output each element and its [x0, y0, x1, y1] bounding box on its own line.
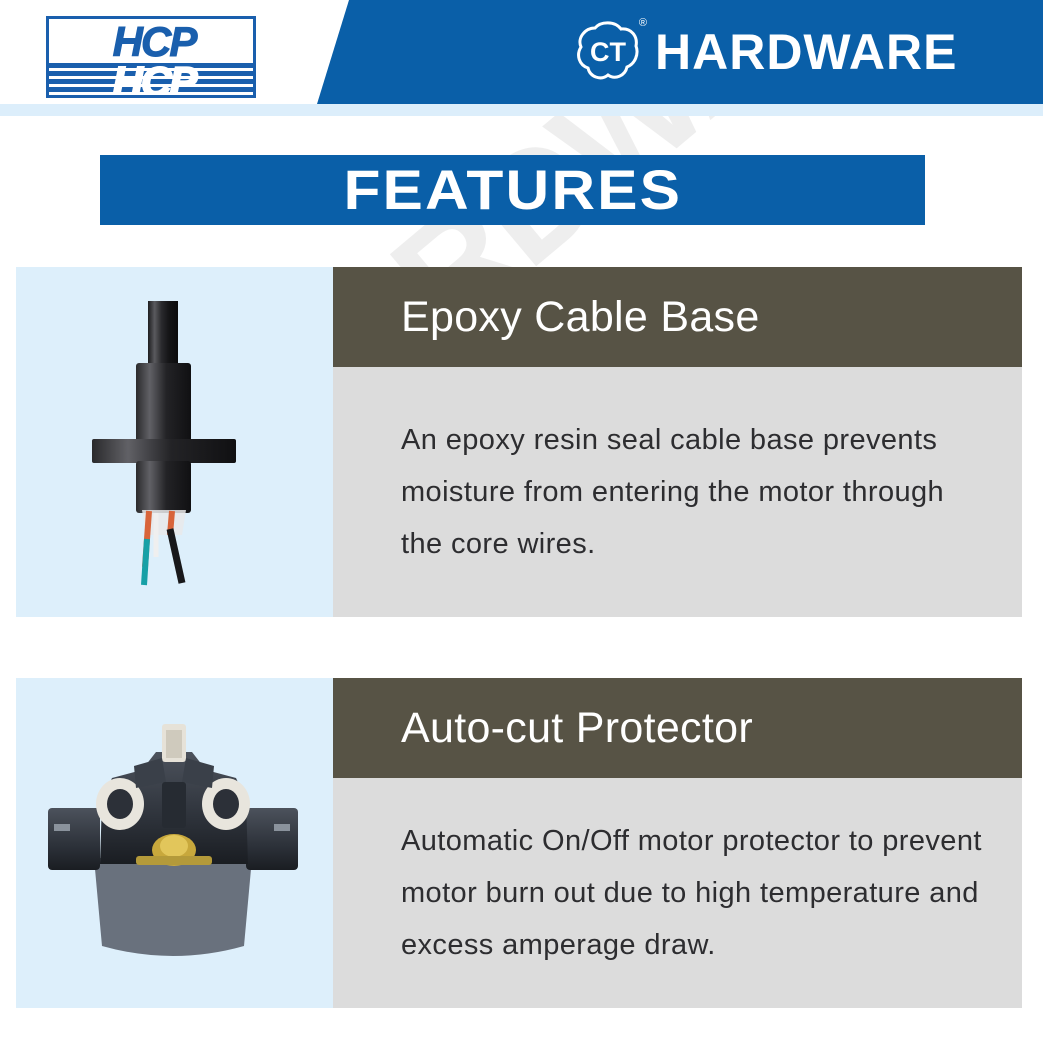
feature-card-description: Automatic On/Off motor protector to prev… [401, 815, 982, 971]
epoxy-cable-base-photo [16, 267, 333, 617]
ct-cloud-icon: CT ® [575, 20, 641, 84]
feature-card-title: Epoxy Cable Base [401, 294, 760, 340]
page-title: FEATURES [343, 162, 682, 218]
features-banner: FEATURES [100, 155, 925, 225]
registered-trademark-icon: ® [639, 18, 647, 29]
feature-card-title-bar: Auto-cut Protector [333, 678, 1022, 778]
feature-card-text-wrap: Automatic On/Off motor protector to prev… [333, 778, 1022, 1008]
page-header: HCP HCP CT ® HARDWARE [0, 0, 1043, 104]
feature-card-auto-cut-protector: Auto-cut Protector Automatic On/Off moto… [16, 678, 1022, 1008]
feature-card-description: An epoxy resin seal cable base prevents … [401, 414, 982, 570]
feature-card-epoxy-cable-base: Epoxy Cable Base An epoxy resin seal cab… [16, 267, 1022, 617]
svg-text:CT: CT [590, 37, 626, 67]
feature-card-title: Auto-cut Protector [401, 705, 753, 751]
feature-card-body: Epoxy Cable Base An epoxy resin seal cab… [333, 267, 1022, 617]
auto-cut-protector-photo [16, 678, 333, 1008]
feature-card-body: Auto-cut Protector Automatic On/Off moto… [333, 678, 1022, 1008]
hcp-logo: HCP HCP [46, 16, 256, 98]
ct-hardware-logo: CT ® HARDWARE [575, 18, 957, 86]
ct-hardware-wordmark: HARDWARE [655, 27, 957, 77]
hcp-logo-wordmark-bottom: HCP [49, 61, 256, 98]
feature-card-text-wrap: An epoxy resin seal cable base prevents … [333, 367, 1022, 617]
features-page: CTHARDWARE.COM HCP HCP CT ® HARDWARE FEA… [0, 0, 1043, 1042]
feature-card-title-bar: Epoxy Cable Base [333, 267, 1022, 367]
hcp-logo-wordmark-top: HCP [49, 21, 256, 63]
header-underline [0, 104, 1043, 116]
